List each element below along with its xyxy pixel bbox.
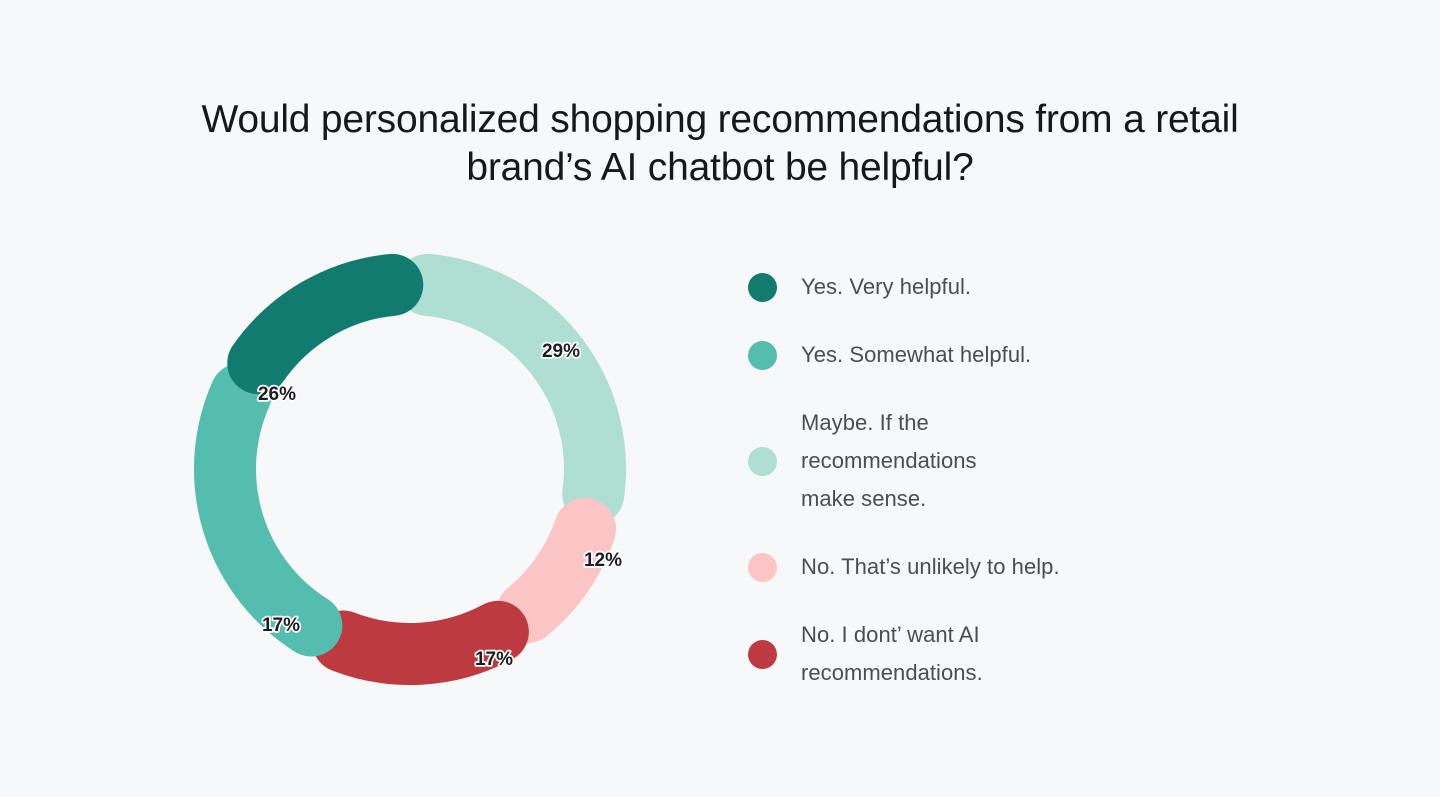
- legend-color-swatch-icon: [748, 447, 777, 476]
- page-title: Would personalized shopping recommendati…: [120, 96, 1320, 192]
- legend-item-label: No. I dont’ want AI recommendations.: [801, 616, 983, 692]
- legend-item[interactable]: Yes. Somewhat helpful.: [748, 336, 1218, 374]
- donut-slice[interactable]: [258, 285, 392, 363]
- donut-slice-value-label: 26%: [258, 384, 296, 405]
- donut-slice-value-label: 17%: [262, 615, 300, 636]
- legend-item-label: Yes. Somewhat helpful.: [801, 336, 1031, 374]
- legend-item-label: Maybe. If the recommendations make sense…: [801, 404, 977, 518]
- legend-item[interactable]: Maybe. If the recommendations make sense…: [748, 404, 1218, 518]
- legend-item-label: No. That’s unlikely to help.: [801, 548, 1060, 586]
- legend-color-swatch-icon: [748, 341, 777, 370]
- donut-slice[interactable]: [428, 285, 595, 494]
- legend-color-swatch-icon: [748, 553, 777, 582]
- donut-slices: [225, 285, 595, 654]
- donut-slice-value-label: 17%: [475, 649, 513, 670]
- donut-slice[interactable]: [225, 394, 311, 625]
- legend-item[interactable]: No. That’s unlikely to help.: [748, 548, 1218, 586]
- donut-slice-value-label: 29%: [542, 341, 580, 362]
- legend-color-swatch-icon: [748, 273, 777, 302]
- donut-slice-value-label: 12%: [584, 550, 622, 571]
- legend-color-swatch-icon: [748, 640, 777, 669]
- donut-chart-svg: 17%26%29%12%17%: [188, 248, 718, 738]
- legend-item-label: Yes. Very helpful.: [801, 268, 971, 306]
- legend-item[interactable]: No. I dont’ want AI recommendations.: [748, 616, 1218, 692]
- title-block: Would personalized shopping recommendati…: [0, 96, 1440, 192]
- legend-item[interactable]: Yes. Very helpful.: [748, 268, 1218, 306]
- chart-legend: Yes. Very helpful.Yes. Somewhat helpful.…: [748, 268, 1218, 692]
- donut-slice[interactable]: [527, 529, 585, 612]
- donut-chart: 17%26%29%12%17%: [188, 248, 718, 738]
- slide-canvas: Would personalized shopping recommendati…: [0, 0, 1440, 797]
